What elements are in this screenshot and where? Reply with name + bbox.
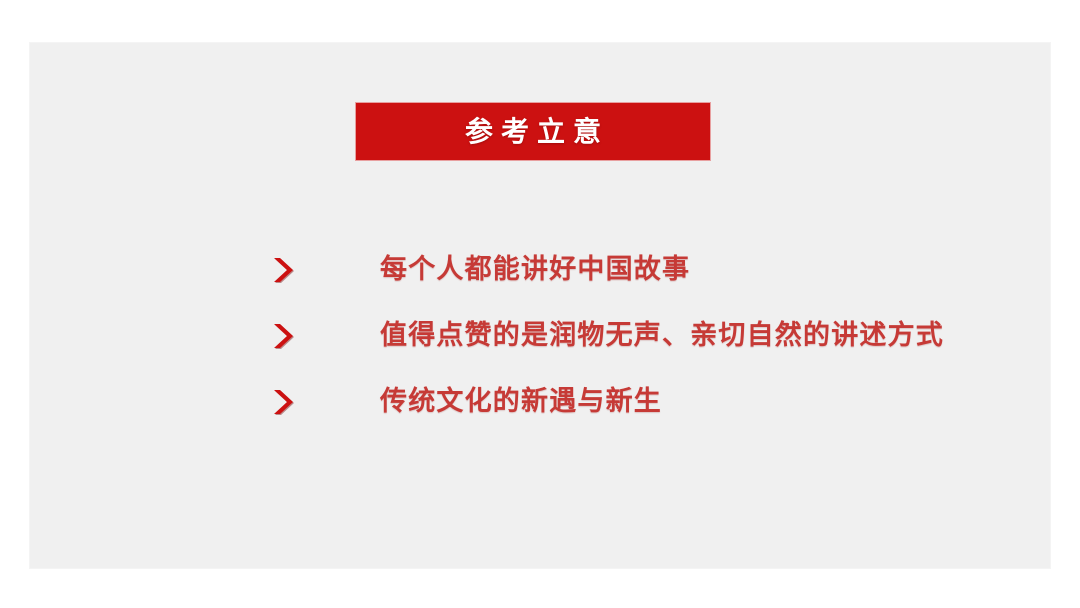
slide-root: 参考立意 每个人都能讲好中国故事 值得点赞的是润物无声、亲切自然的讲述方式 bbox=[0, 0, 1080, 608]
list-item: 传统文化的新遇与新生 bbox=[268, 369, 1028, 435]
title-banner: 参考立意 bbox=[356, 103, 710, 160]
chevron-right-icon bbox=[268, 319, 302, 353]
page-title: 参考立意 bbox=[457, 118, 609, 146]
bullet-list: 每个人都能讲好中国故事 值得点赞的是润物无声、亲切自然的讲述方式 传统文化的新遇… bbox=[268, 237, 1028, 435]
list-item-label: 值得点赞的是润物无声、亲切自然的讲述方式 bbox=[380, 320, 944, 352]
chevron-right-icon bbox=[268, 385, 302, 419]
list-item-label: 每个人都能讲好中国故事 bbox=[380, 254, 690, 286]
content-panel: 参考立意 每个人都能讲好中国故事 值得点赞的是润物无声、亲切自然的讲述方式 bbox=[30, 43, 1050, 568]
list-item: 值得点赞的是润物无声、亲切自然的讲述方式 bbox=[268, 303, 1028, 369]
list-item-label: 传统文化的新遇与新生 bbox=[380, 386, 662, 418]
chevron-right-icon bbox=[268, 253, 302, 287]
list-item: 每个人都能讲好中国故事 bbox=[268, 237, 1028, 303]
